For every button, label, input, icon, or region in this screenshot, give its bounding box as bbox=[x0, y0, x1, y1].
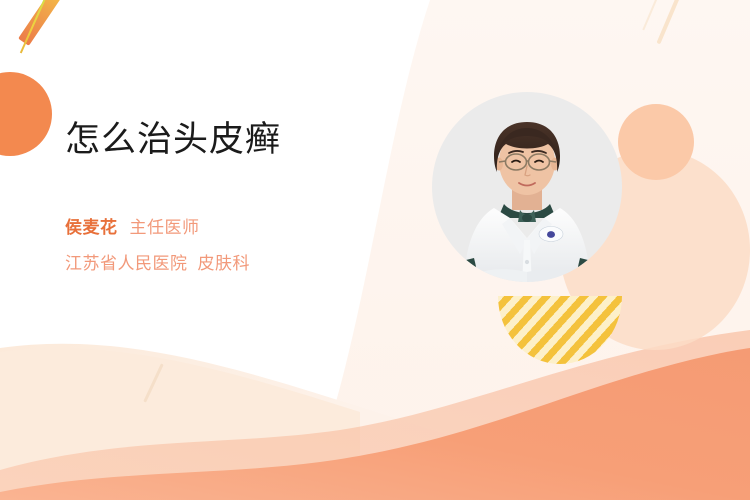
hospital-name: 江苏省人民医院 bbox=[65, 254, 188, 273]
doctor-info-card: 怎么治头皮癣 侯麦花主任医师 江苏省人民医院皮肤科 bbox=[0, 0, 750, 500]
doctor-title: 主任医师 bbox=[130, 218, 200, 237]
department-name: 皮肤科 bbox=[198, 254, 251, 273]
doctor-affiliation-line: 江苏省人民医院皮肤科 bbox=[65, 250, 405, 277]
doctor-name: 侯麦花 bbox=[65, 218, 118, 237]
page-title: 怎么治头皮癣 bbox=[65, 118, 405, 162]
doctor-credential-line: 侯麦花主任医师 bbox=[65, 214, 405, 241]
text-block: 怎么治头皮癣 侯麦花主任医师 江苏省人民医院皮肤科 bbox=[65, 118, 405, 277]
